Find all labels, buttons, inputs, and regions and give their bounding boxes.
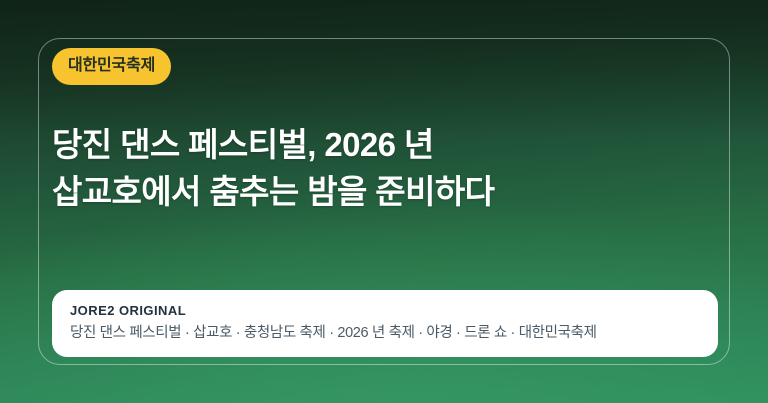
brand-label: JORE2 ORIGINAL [70, 303, 700, 319]
footer-card: JORE2 ORIGINAL 당진 댄스 페스티벌 · 삽교호 · 충청남도 축… [52, 290, 718, 357]
headline-line-1: 당진 댄스 페스티벌, 2026 년 [52, 122, 692, 169]
category-badge[interactable]: 대한민국축제 [52, 48, 171, 85]
headline-line-2: 삽교호에서 춤추는 밤을 준비하다 [52, 169, 692, 216]
page-title: 당진 댄스 페스티벌, 2026 년 삽교호에서 춤추는 밤을 준비하다 [52, 122, 692, 216]
tag-list: 당진 댄스 페스티벌 · 삽교호 · 충청남도 축제 · 2026 년 축제 ·… [70, 324, 700, 343]
poster-content: 대한민국축제 당진 댄스 페스티벌, 2026 년 삽교호에서 춤추는 밤을 준… [52, 48, 718, 358]
festival-poster: 대한민국축제 당진 댄스 페스티벌, 2026 년 삽교호에서 춤추는 밤을 준… [0, 0, 768, 403]
